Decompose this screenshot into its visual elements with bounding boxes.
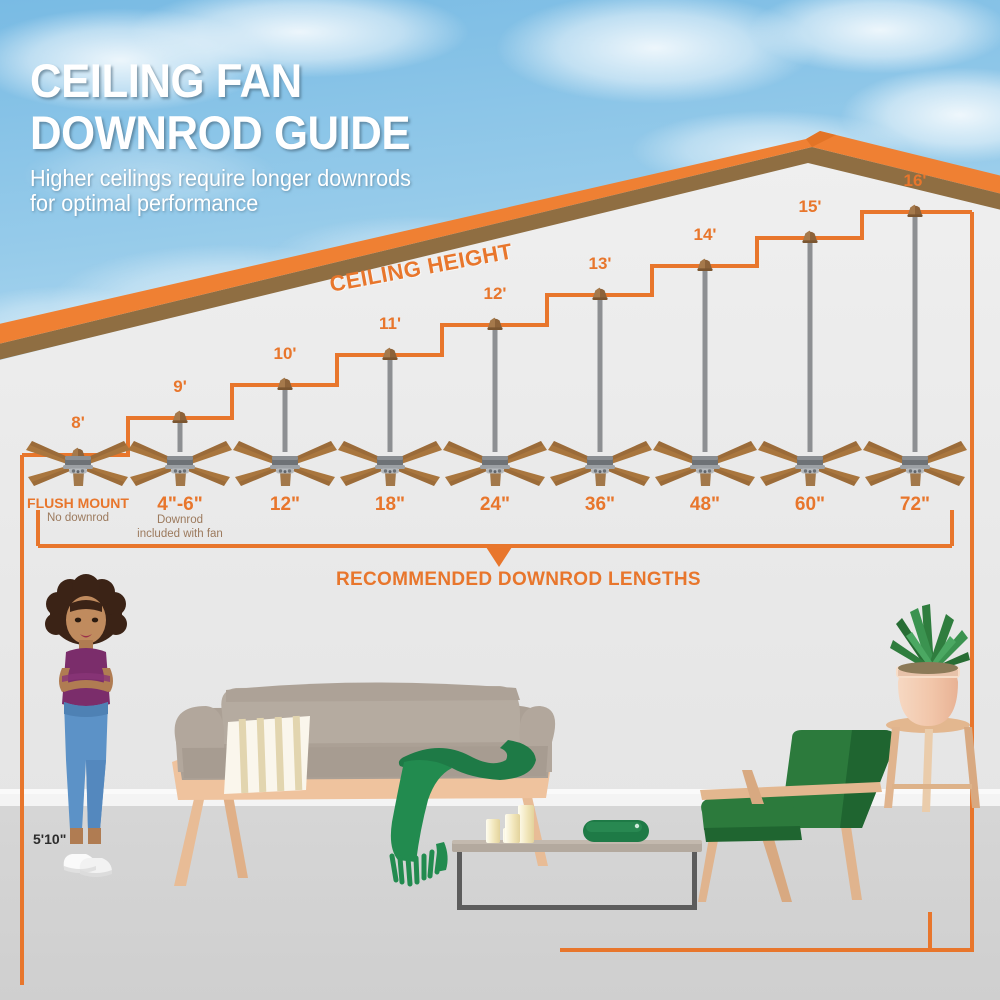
downrod-length-7: 60" (795, 494, 825, 516)
downrod-note-0: No downrod (47, 512, 109, 526)
infographic-canvas: CEILING FAN DOWNROD GUIDE Higher ceiling… (0, 0, 1000, 1000)
downrod-length-1: 4"-6" (157, 494, 202, 516)
downrod-note-1b: included with fan (137, 528, 223, 542)
ceiling-height-11: 11' (379, 314, 401, 334)
ceiling-height-9: 9' (173, 377, 187, 397)
person-height-label: 5'10" (33, 831, 66, 847)
green-bowl-graphic (583, 820, 649, 842)
downrod-length-4: 24" (480, 494, 510, 516)
subtitle-line-1: Higher ceilings require longer downrods (30, 165, 411, 192)
title-line-2: DOWNROD GUIDE (30, 105, 410, 160)
recommended-downrod-lengths-label: RECOMMENDED DOWNROD LENGTHS (336, 569, 701, 591)
ceiling-height-8: 8' (71, 413, 85, 433)
title-line-1: CEILING FAN (30, 53, 302, 108)
downrod-note-1a: Downrod (157, 514, 203, 528)
downrod-length-5: 36" (585, 494, 615, 516)
ceiling-height-15: 15' (799, 197, 822, 217)
striped-pillow-graphic (224, 716, 310, 794)
downrod-length-3: 18" (375, 494, 405, 516)
ceiling-height-12: 12' (484, 284, 507, 304)
ceiling-height-13: 13' (589, 254, 612, 274)
ceiling-height-14: 14' (694, 225, 717, 245)
subtitle-line-2: for optimal performance (30, 190, 258, 217)
ceiling-height-10: 10' (274, 344, 297, 364)
ceiling-height-16: 16' (904, 171, 927, 191)
downrod-length-8: 72" (900, 494, 930, 516)
downrod-length-0: FLUSH MOUNT (27, 495, 129, 511)
downrod-length-6: 48" (690, 494, 720, 516)
downrod-length-2: 12" (270, 494, 300, 516)
